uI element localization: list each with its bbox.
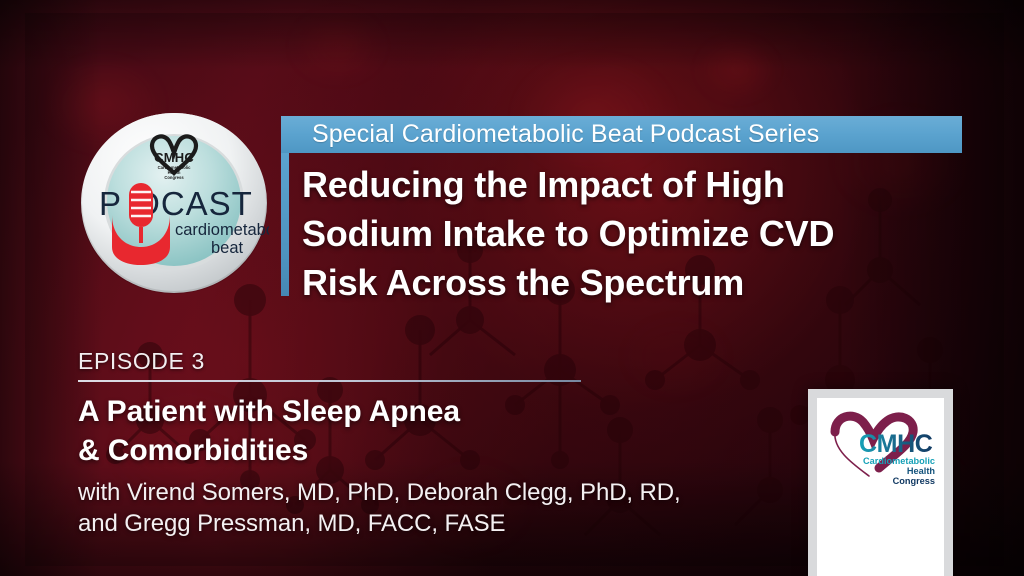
podcast-badge: CMHC Cardiometabolic Health Congress P D… — [79, 107, 269, 297]
episode-divider — [78, 380, 581, 382]
svg-text:CMHC: CMHC — [154, 150, 194, 165]
badge-word-p: P — [99, 185, 122, 222]
series-banner-text: Special Cardiometabolic Beat Podcast Ser… — [312, 120, 819, 149]
episode-title-line-1: A Patient with Sleep Apnea — [78, 392, 778, 431]
svg-text:Congress: Congress — [164, 175, 184, 180]
speakers-line-2: and Gregg Pressman, MD, FACC, FASE — [78, 508, 838, 539]
podcast-title-card: CMHC Cardiometabolic Health Congress P D… — [0, 0, 1024, 576]
badge-tagline-line2: beat — [211, 239, 244, 257]
episode-title: A Patient with Sleep Apnea & Comorbiditi… — [78, 392, 778, 470]
cmhc-acronym: CMHC — [859, 430, 933, 458]
cmhc-logo-card-inner: CMHC Cardiometabolic Health Congress — [817, 398, 944, 576]
episode-label: EPISODE 3 — [78, 348, 205, 375]
badge-tagline-line1: cardiometabolic — [175, 221, 269, 239]
banner-accent-bar — [281, 153, 289, 296]
series-banner: Special Cardiometabolic Beat Podcast Ser… — [281, 116, 962, 153]
badge-word-rest: DCAST — [136, 185, 253, 222]
cmhc-sub-line-3: Congress — [893, 476, 935, 486]
episode-title-line-2: & Comorbidities — [78, 431, 778, 470]
podcast-badge-svg: CMHC Cardiometabolic Health Congress P D… — [79, 107, 269, 297]
cmhc-sub-line-1: Cardiometabolic — [863, 456, 935, 466]
cmhc-logo-svg: CMHC Cardiometabolic Health Congress — [823, 406, 939, 494]
cmhc-logo-card: CMHC Cardiometabolic Health Congress — [808, 389, 953, 576]
speakers-line-1: with Virend Somers, MD, PhD, Deborah Cle… — [78, 477, 838, 508]
page-title-line-2: Sodium Intake to Optimize CVD — [302, 209, 974, 258]
page-title-line-1: Reducing the Impact of High — [302, 160, 974, 209]
cmhc-sub-line-2: Health — [907, 466, 935, 476]
page-title: Reducing the Impact of High Sodium Intak… — [302, 160, 974, 307]
speakers-list: with Virend Somers, MD, PhD, Deborah Cle… — [78, 477, 838, 539]
page-title-line-3: Risk Across the Spectrum — [302, 258, 974, 307]
